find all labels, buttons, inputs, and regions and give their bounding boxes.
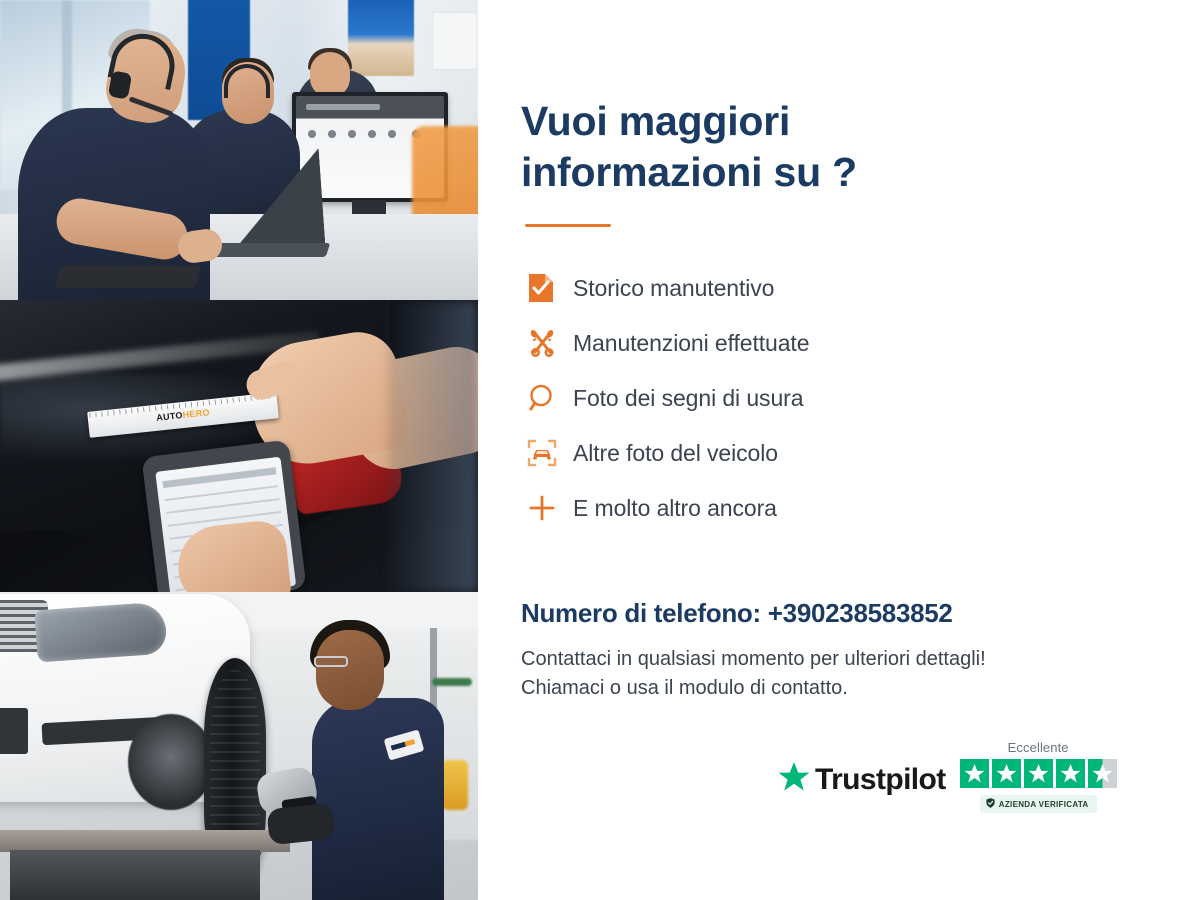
promo-page: AUTOHERO [0, 0, 1200, 900]
photo-column: AUTOHERO [0, 0, 478, 900]
wall-paper-sheet [432, 12, 478, 70]
feature-list: Storico manutentivo Manutenzi [521, 261, 1152, 536]
trustpilot-star-icon [778, 762, 810, 798]
star-half-5 [1088, 759, 1117, 788]
photo-wheel-service [0, 592, 478, 900]
green-hose [432, 678, 472, 686]
wrench-screwdriver-icon [521, 328, 573, 358]
yellow-container [442, 760, 468, 810]
rating-stars [960, 759, 1117, 788]
star-filled-2 [992, 759, 1021, 788]
content-panel: Vuoi maggiori informazioni su ? Storico … [478, 0, 1200, 900]
car-scan-icon [521, 438, 573, 468]
document-check-icon [521, 273, 573, 303]
trustpilot-logo: Trustpilot [778, 762, 946, 798]
magnifier-icon [521, 383, 573, 413]
phone-number[interactable]: Numero di telefono: +390238583852 [521, 598, 1152, 629]
monitor-stand [352, 200, 386, 214]
car-headlight [34, 602, 167, 663]
list-item: E molto altro ancora [521, 481, 1152, 536]
plus-icon [521, 493, 573, 523]
list-item: Storico manutentivo [521, 261, 1152, 316]
star-filled-3 [1024, 759, 1053, 788]
list-item: Foto dei segni di usura [521, 371, 1152, 426]
tool-cabinet [10, 850, 260, 900]
car-side-vent [0, 708, 28, 754]
list-item: Manutenzioni effettuate [521, 316, 1152, 371]
contact-block: Numero di telefono: +390238583852 Contat… [521, 598, 1152, 703]
mechanic-body [312, 698, 444, 900]
keyboard [55, 266, 201, 288]
list-item: Altre foto del veicolo [521, 426, 1152, 481]
laptop-screen [233, 148, 326, 244]
wall-poster [348, 0, 414, 76]
star-filled-1 [960, 759, 989, 788]
list-item-label: Manutenzioni effettuate [573, 330, 809, 357]
car-lift-platform [0, 830, 290, 852]
headline-line-2: informazioni su ? [521, 149, 857, 195]
photo-call-center [0, 0, 478, 300]
star-filled-4 [1056, 759, 1085, 788]
verified-label: AZIENDA VERIFICATA [999, 800, 1089, 809]
wheel-hub [128, 714, 214, 810]
shield-check-icon [986, 798, 995, 810]
contact-copy-line-1: Contattaci in qualsiasi momento per ulte… [521, 648, 986, 670]
background-blur [388, 300, 478, 592]
photo-car-inspection: AUTOHERO [0, 300, 478, 592]
trustpilot-widget[interactable]: Trustpilot Eccellente [778, 740, 1117, 813]
trustpilot-wordmark: Trustpilot [815, 763, 946, 797]
list-item-label: Storico manutentivo [573, 275, 774, 302]
headline-line-1: Vuoi maggiori [521, 98, 790, 144]
trustpilot-rating: Eccellente [960, 740, 1117, 813]
list-item-label: Altre foto del veicolo [573, 440, 778, 467]
verified-badge: AZIENDA VERIFICATA [980, 795, 1097, 813]
mechanic-head [316, 630, 384, 710]
list-item-label: E molto altro ancora [573, 495, 777, 522]
contact-copy-line-2: Chiamaci o usa il modulo di contatto. [521, 677, 848, 699]
mechanic-glasses [314, 656, 348, 667]
mechanic-second-glove [266, 803, 335, 846]
rating-label: Eccellente [1008, 740, 1069, 755]
list-item-label: Foto dei segni di usura [573, 385, 803, 412]
title-divider [525, 224, 611, 227]
contact-copy: Contattaci in qualsiasi momento per ulte… [521, 645, 1152, 703]
page-title: Vuoi maggiori informazioni su ? [521, 96, 941, 198]
